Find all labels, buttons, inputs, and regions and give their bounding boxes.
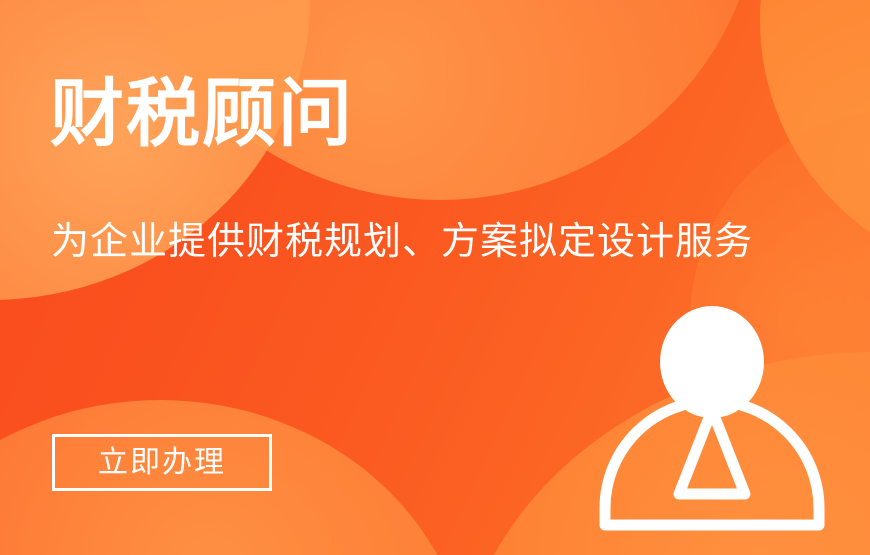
banner-title: 财税顾问: [50, 77, 354, 151]
promo-banner: 财税顾问 为企业提供财税规划、方案拟定设计服务 立即办理: [0, 0, 870, 555]
advisor-person-icon: [588, 298, 838, 538]
banner-content: 财税顾问 为企业提供财税规划、方案拟定设计服务 立即办理: [0, 0, 870, 555]
person-tie-icon: [679, 410, 745, 494]
banner-subtitle: 为企业提供财税规划、方案拟定设计服务: [51, 219, 753, 267]
apply-now-button[interactable]: 立即办理: [52, 434, 272, 491]
